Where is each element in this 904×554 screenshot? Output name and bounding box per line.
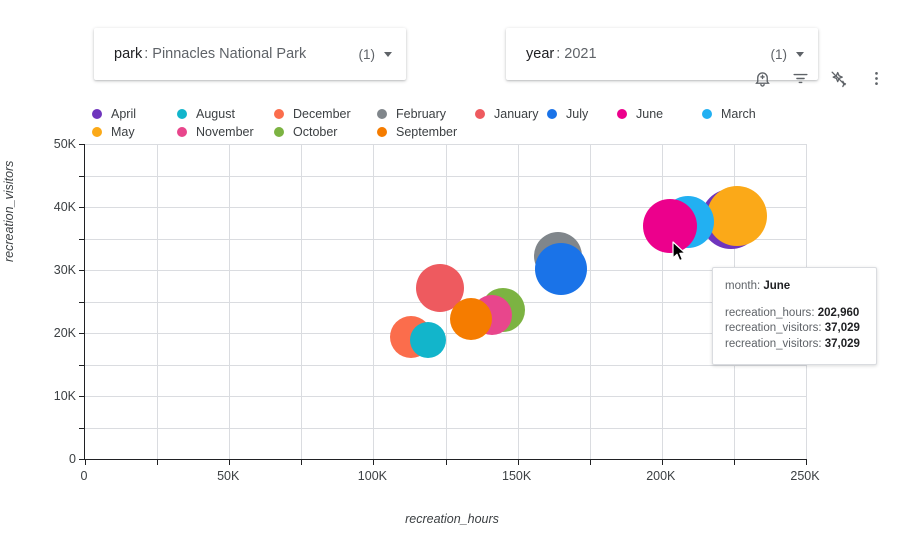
x-axis-tick [446,459,447,465]
legend-swatch-icon [177,109,187,119]
legend-item-label: May [111,125,135,139]
tooltip-row-value: 202,960 [818,307,860,319]
legend-item-label: October [293,125,337,139]
x-axis-tick [518,459,519,465]
chart-bubble-august[interactable] [410,322,446,358]
legend-item-label: July [566,107,588,121]
legend-swatch-icon [475,109,485,119]
legend-item-april[interactable]: April [92,104,136,124]
y-axis-tick-label: 30K [16,263,76,277]
legend-swatch-icon [547,109,557,119]
x-axis-tick-label: 0 [81,469,88,483]
x-axis-tick-label: 250K [790,469,819,483]
tooltip-row-value: 37,029 [825,322,860,334]
y-axis-tick [79,333,85,334]
x-axis-tick-label: 50K [217,469,239,483]
legend-item-label: November [196,125,254,139]
chart-bubble-september[interactable] [450,298,492,340]
gridline-vertical [662,144,663,459]
legend-item-february[interactable]: February [377,104,446,124]
y-axis-tick [79,176,85,177]
legend-item-july[interactable]: July [547,104,588,124]
legend-item-august[interactable]: August [177,104,235,124]
chevron-down-icon[interactable] [384,52,392,57]
tooltip-title: month: June [725,279,864,295]
x-axis-tick [229,459,230,465]
chart-bubble-june[interactable] [643,199,697,253]
legend-item-january[interactable]: January [475,104,538,124]
x-axis-tick-label: 100K [358,469,387,483]
more-vert-icon[interactable] [862,64,890,92]
x-axis-tick [85,459,86,465]
legend-swatch-icon [702,109,712,119]
legend-swatch-icon [92,127,102,137]
legend-swatch-icon [617,109,627,119]
legend-item-march[interactable]: March [702,104,756,124]
y-axis-tick-label: 10K [16,389,76,403]
gridline-vertical [373,144,374,459]
filter-chip-year-value: : 2021 [556,46,596,62]
gridline-vertical [229,144,230,459]
y-axis-tick-label: 50K [16,137,76,151]
chart-tooltip: month: June recreation_hours: 202,960rec… [712,267,877,365]
legend-item-label: December [293,107,351,121]
legend-item-label: April [111,107,136,121]
y-axis-tick-label: 20K [16,326,76,340]
y-axis-tick [79,207,85,208]
y-axis-tick-label: 0 [16,452,76,466]
chart-plot-area [84,144,806,460]
legend-swatch-icon [377,127,387,137]
filter-chip-park-count: (1) [359,47,376,62]
legend-item-december[interactable]: December [274,104,351,124]
legend-item-june[interactable]: June [617,104,663,124]
legend-item-label: June [636,107,663,121]
x-axis-tick-label: 150K [502,469,531,483]
y-axis-tick [79,396,85,397]
y-axis-label: recreation_visitors [2,161,16,262]
y-axis-tick [79,270,85,271]
filter-icon[interactable] [786,64,814,92]
explore-off-icon[interactable] [824,64,852,92]
x-axis-tick [662,459,663,465]
legend-item-label: February [396,107,446,121]
legend-swatch-icon [274,127,284,137]
legend-swatch-icon [92,109,102,119]
legend-item-label: August [196,107,235,121]
legend-item-label: January [494,107,538,121]
mouse-cursor [672,241,688,268]
legend-swatch-icon [274,109,284,119]
chart-toolbar [748,64,890,92]
gridline-vertical [157,144,158,459]
gridline-vertical [590,144,591,459]
filter-chip-park-value: : Pinnacles National Park [144,46,306,62]
filter-chip-park[interactable]: park : Pinnacles National Park (1) [94,28,406,80]
legend-item-label: March [721,107,756,121]
x-axis-tick [373,459,374,465]
legend-swatch-icon [177,127,187,137]
tooltip-row-key: recreation_visitors [725,338,818,350]
x-axis-tick [301,459,302,465]
legend-item-november[interactable]: November [177,122,254,142]
y-axis-tick [79,428,85,429]
tooltip-row-value: 37,029 [825,338,860,350]
x-axis-tick-label: 200K [646,469,675,483]
tooltip-row-key: recreation_hours [725,307,811,319]
legend-item-may[interactable]: May [92,122,135,142]
x-axis-tick [734,459,735,465]
chart-bubble-may[interactable] [707,186,767,246]
x-axis-tick [806,459,807,465]
x-axis-tick [157,459,158,465]
tooltip-row-key: recreation_visitors [725,322,818,334]
legend-item-october[interactable]: October [274,122,337,142]
x-axis-tick [590,459,591,465]
legend-item-label: September [396,125,457,139]
chevron-down-icon[interactable] [796,52,804,57]
tooltip-row: recreation_visitors: 37,029 [725,337,864,353]
y-axis-tick [79,239,85,240]
y-axis-tick [79,144,85,145]
chart-bubble-july[interactable] [535,243,587,295]
tooltip-row: recreation_hours: 202,960 [725,306,864,322]
y-axis-tick [79,302,85,303]
x-axis-label: recreation_hours [0,512,904,526]
legend-item-september[interactable]: September [377,122,457,142]
filter-chip-park-label: park [114,46,142,62]
legend-swatch-icon [377,109,387,119]
tooltip-row: recreation_visitors: 37,029 [725,321,864,337]
y-axis-tick [79,365,85,366]
filter-chip-year-count: (1) [771,47,788,62]
add-alert-icon[interactable] [748,64,776,92]
filter-chip-year-label: year [526,46,554,62]
y-axis-tick-label: 40K [16,200,76,214]
gridline-vertical [301,144,302,459]
